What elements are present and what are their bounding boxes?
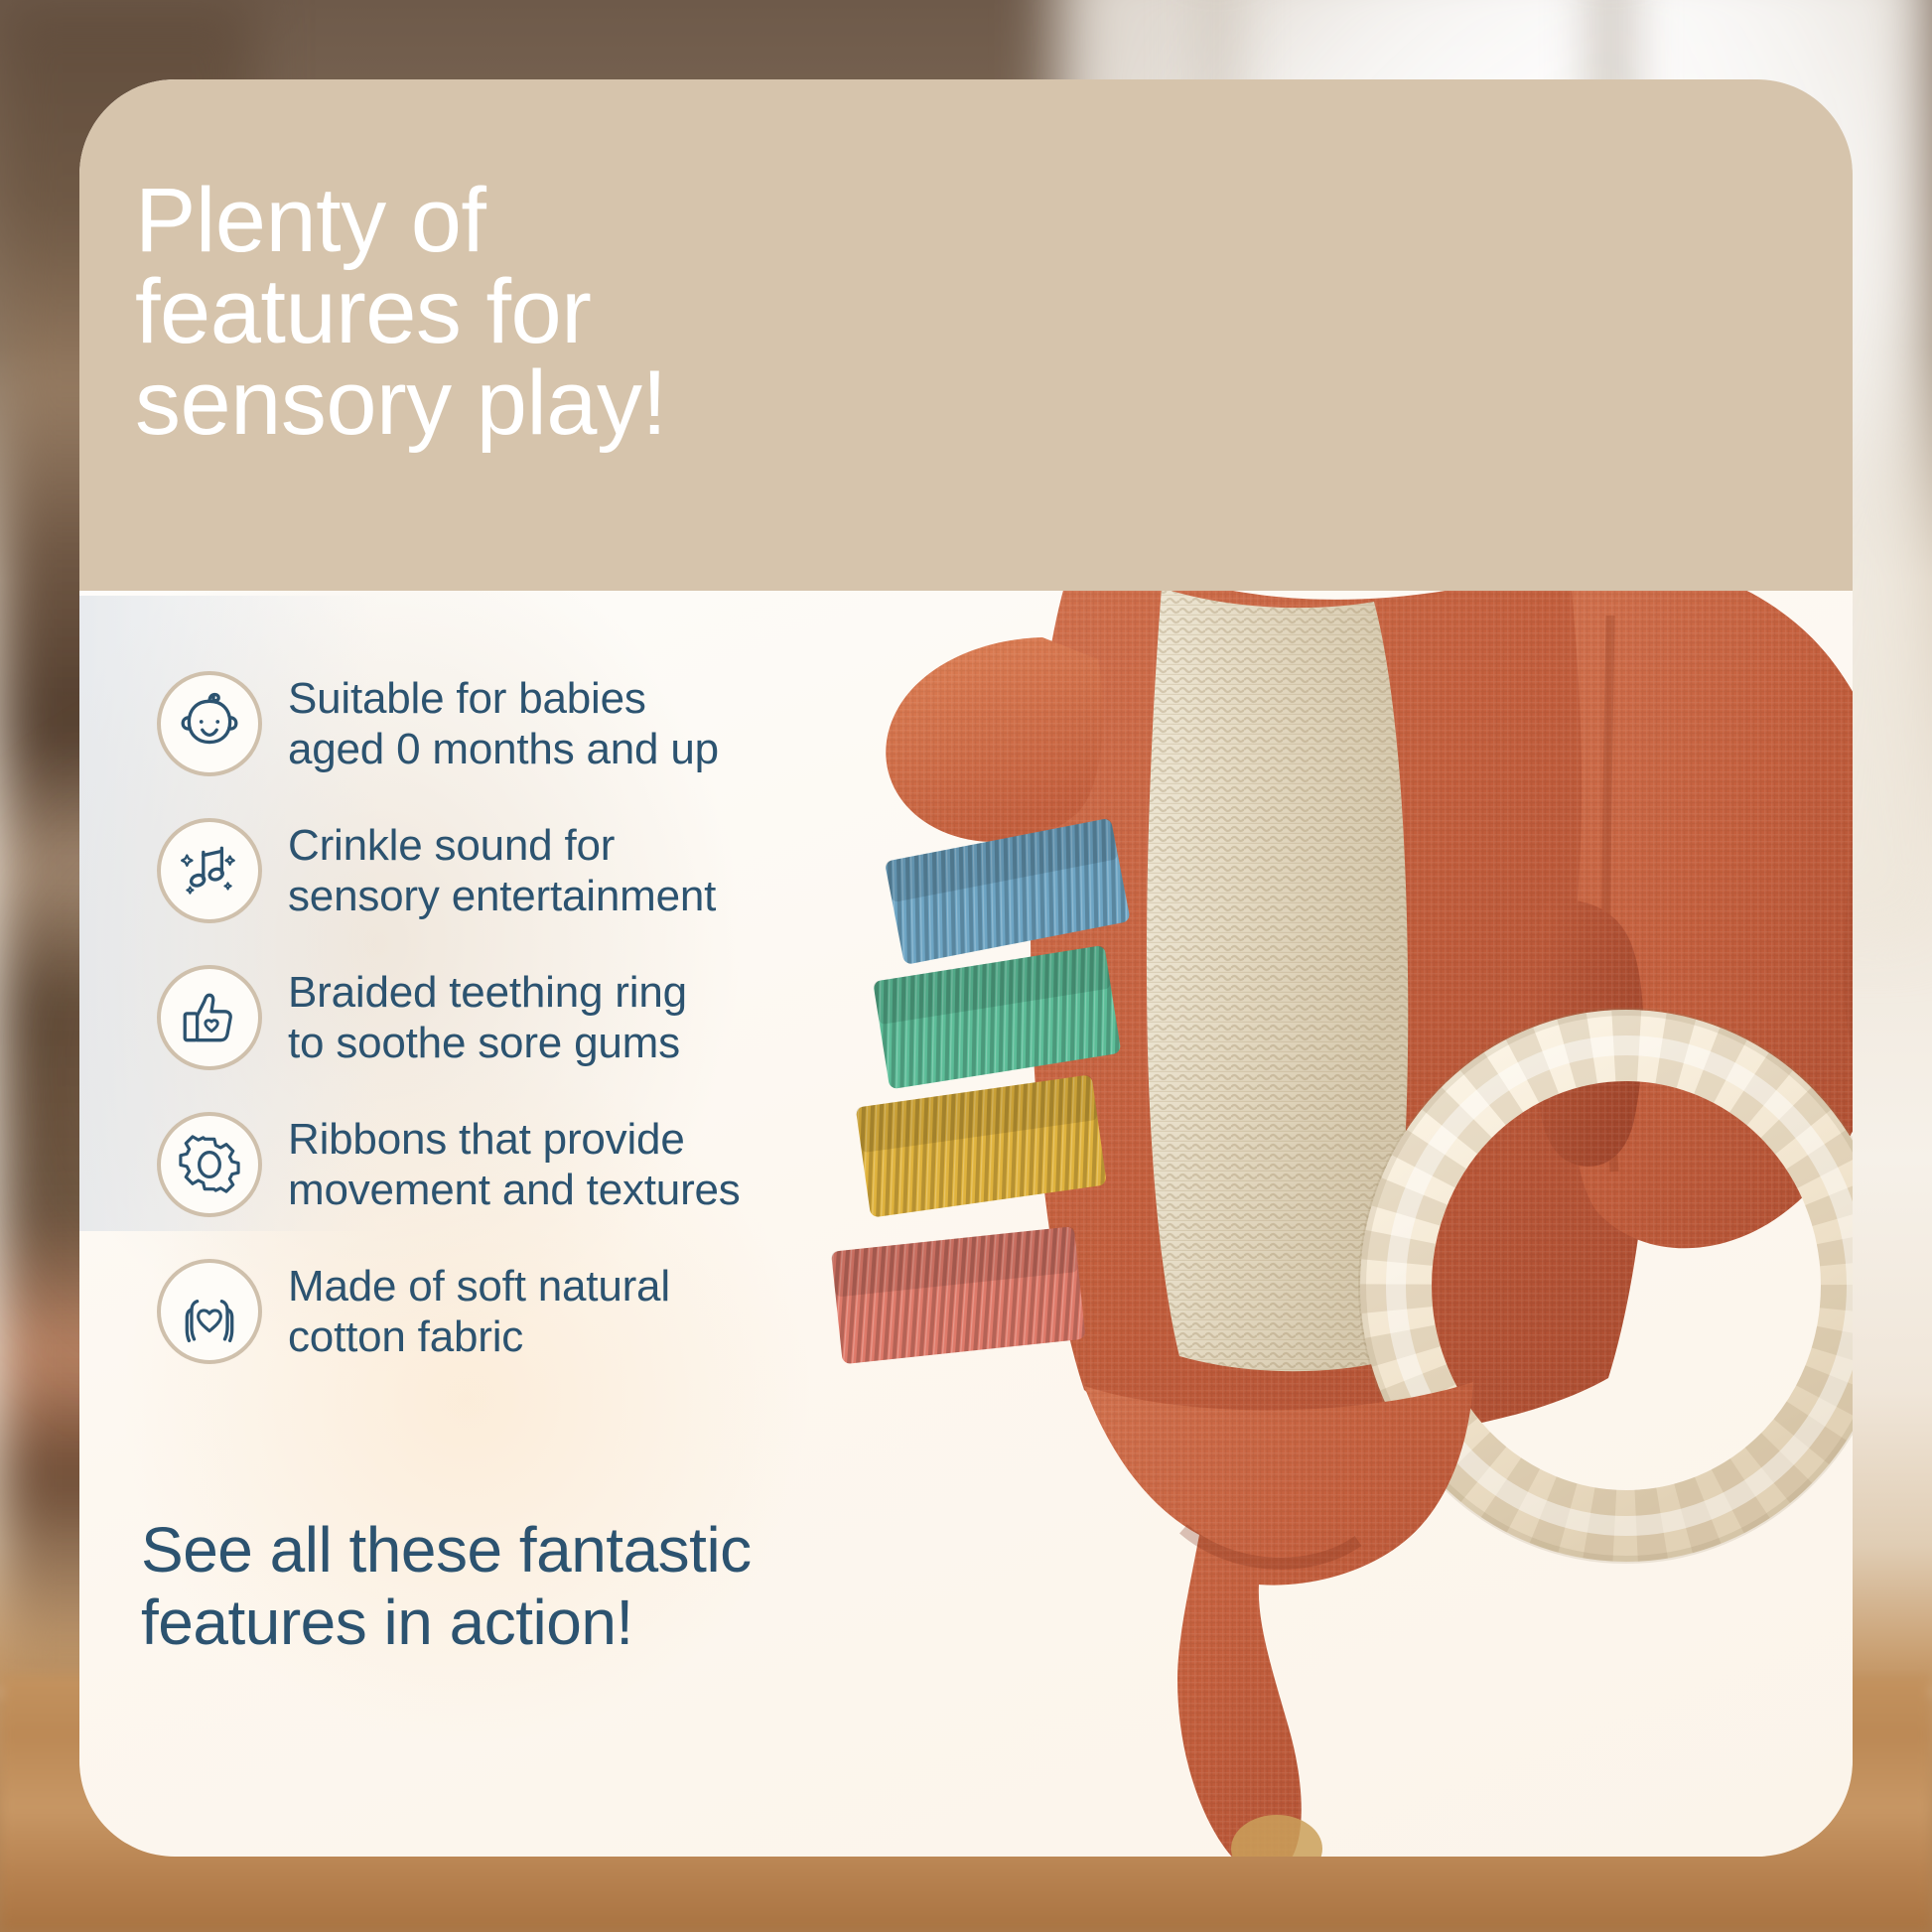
page-title: Plenty of features for sensory play! [135,175,1108,449]
feature-label: Suitable for babies aged 0 months and up [288,673,719,774]
cta-line-1: See all these fantastic [141,1514,955,1587]
music-notes-icon [157,818,262,923]
fox-knotted-tail [1084,1382,1473,1857]
feature-text-line: Crinkle sound for [288,820,716,871]
feature-text-line: movement and textures [288,1165,741,1215]
feature-text-line: Ribbons that provide [288,1114,741,1165]
headline-line-1: Plenty of [135,175,1108,266]
feature-text-line: to soothe sore gums [288,1018,687,1068]
gear-icon [157,1112,262,1217]
feature-text-line: aged 0 months and up [288,724,719,774]
feature-text-line: Braided teething ring [288,967,687,1018]
feature-item-crinkle-sound: Crinkle sound for sensory entertainment [157,797,971,944]
feature-item-suitable-for-babies: Suitable for babies aged 0 months and up [157,650,971,797]
feature-text-line: Suitable for babies [288,673,719,724]
feature-label: Made of soft natural cotton fabric [288,1261,670,1362]
baby-face-icon [157,671,262,776]
feature-item-teething-ring: Braided teething ring to soothe sore gum… [157,944,971,1091]
headline-line-3: sensory play! [135,357,1108,449]
headline-line-2: features for [135,266,1108,357]
feature-text-line: cotton fabric [288,1311,670,1362]
call-to-action-text: See all these fantastic features in acti… [141,1514,955,1659]
feature-label: Ribbons that provide movement and textur… [288,1114,741,1215]
thumbs-up-heart-icon [157,965,262,1070]
hands-heart-icon [157,1259,262,1364]
feature-item-ribbons: Ribbons that provide movement and textur… [157,1091,971,1238]
cta-line-2: features in action! [141,1587,955,1659]
feature-text-line: Made of soft natural [288,1261,670,1311]
feature-label: Braided teething ring to soothe sore gum… [288,967,687,1068]
feature-item-cotton-fabric: Made of soft natural cotton fabric [157,1238,971,1385]
feature-card: Plenty of features for sensory play! Sui… [79,79,1853,1857]
feature-list: Suitable for babies aged 0 months and up [157,650,971,1385]
feature-text-line: sensory entertainment [288,871,716,921]
feature-label: Crinkle sound for sensory entertainment [288,820,716,921]
